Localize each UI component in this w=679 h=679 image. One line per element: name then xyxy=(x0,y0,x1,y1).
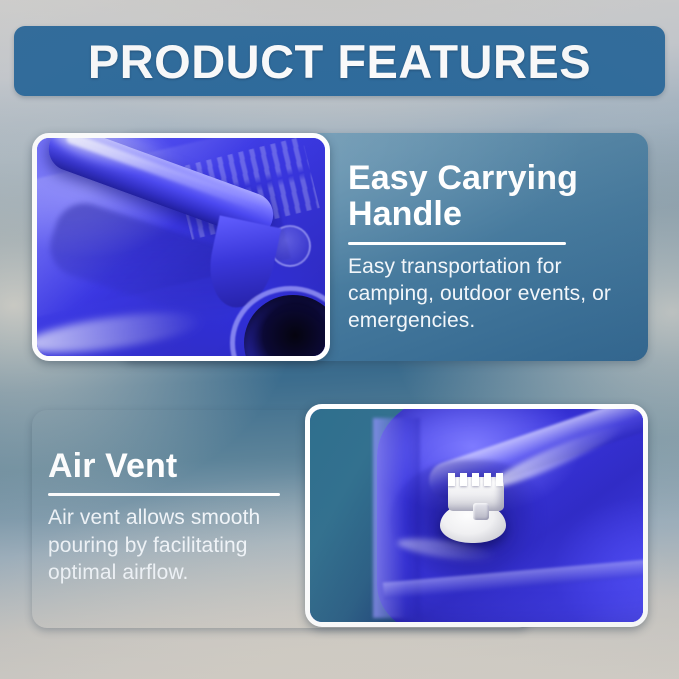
page-title: PRODUCT FEATURES xyxy=(88,38,591,85)
title-divider xyxy=(48,493,280,496)
feature-description: Air vent allows smooth pouring by facili… xyxy=(48,504,300,586)
jerry-can-handle-illustration xyxy=(37,138,325,356)
title-divider xyxy=(348,242,566,245)
header-banner: PRODUCT FEATURES xyxy=(14,26,665,96)
feature-title: Easy Carrying Handle xyxy=(348,160,630,233)
feature-text-air-vent: Air Vent Air vent allows smooth pouring … xyxy=(48,448,300,586)
feature-title: Air Vent xyxy=(48,448,300,484)
jerry-can-air-vent-illustration xyxy=(310,409,643,622)
feature-text-easy-carrying-handle: Easy Carrying Handle Easy transportation… xyxy=(348,160,630,335)
product-features-infographic: PRODUCT FEATURES Easy Carrying Handle Ea… xyxy=(0,0,679,679)
feature-description: Easy transportation for camping, outdoor… xyxy=(348,253,630,335)
air-vent-cap-slot xyxy=(473,503,489,520)
feature-image-air-vent xyxy=(305,404,648,627)
feature-image-carrying-handle xyxy=(32,133,330,361)
